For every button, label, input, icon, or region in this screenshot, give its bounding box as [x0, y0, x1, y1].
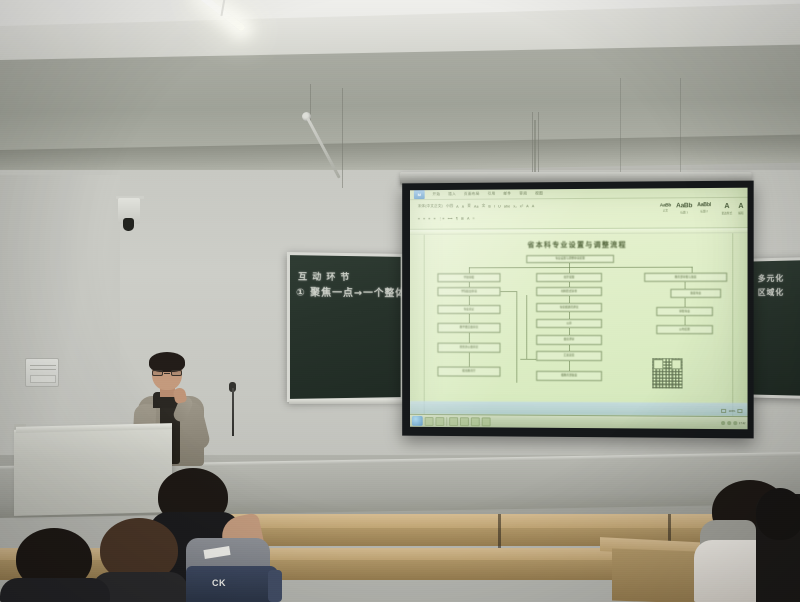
show-marks-icon[interactable]: ¶: [456, 217, 458, 221]
document-title: 省本科专业设置与调整流程: [410, 239, 748, 250]
word-application-window[interactable]: M 开始 插入 页面布局 引用 邮件 审阅 视图 宋体(中文正文) 小四 A A: [410, 188, 748, 430]
student-torso: [0, 578, 110, 602]
jacket-denim-body: [186, 566, 278, 602]
underline-icon[interactable]: U: [498, 204, 501, 208]
taskbar-separator: [446, 417, 447, 426]
zoom-level: 100%: [729, 409, 736, 412]
zoom-control[interactable]: 100%: [721, 409, 742, 413]
student-head: [756, 488, 800, 540]
flow-link: [569, 361, 570, 371]
flow-node: 会议评审: [536, 335, 602, 345]
camera-lens: [123, 218, 134, 231]
ribbon-tab-6[interactable]: 视图: [535, 191, 543, 196]
projection-screen[interactable]: M 开始 插入 页面布局 引用 邮件 审阅 视图 宋体(中文正文) 小四 A A: [402, 181, 753, 439]
bold-icon[interactable]: B: [488, 204, 491, 208]
flow-top-node: 专业设置与调整申请受理: [526, 255, 614, 263]
change-styles-button[interactable]: A 更改样式: [722, 203, 733, 215]
zoom-in-button[interactable]: [737, 409, 742, 413]
flow-node: 备案专业: [670, 289, 721, 298]
wall-electrical-panel: [25, 358, 59, 387]
flow-node: 校长办公会审定: [437, 343, 500, 353]
style-sample: AaBb: [676, 202, 692, 209]
taskbar-icon-browser[interactable]: [425, 416, 434, 425]
flow-link: [569, 312, 570, 319]
hanging-wire: [538, 112, 539, 174]
editing-button[interactable]: A 编辑: [738, 203, 743, 215]
desk-gap: [498, 514, 501, 548]
flow-link: [469, 333, 470, 343]
flow-link: [469, 353, 470, 367]
strikethrough-icon[interactable]: abe: [504, 204, 511, 208]
font-size-box[interactable]: 小四: [446, 204, 453, 209]
flow-link: [569, 328, 570, 335]
bullets-icon[interactable]: ≡: [418, 217, 420, 221]
eyeglasses-icon: [152, 370, 182, 376]
superscript-icon[interactable]: x²: [520, 204, 523, 208]
flow-side-rail: [516, 291, 517, 383]
taskbar-icon-image[interactable]: [471, 417, 480, 426]
ribbon-right-tools[interactable]: A 更改样式 A 编辑: [722, 203, 744, 215]
line-spacing-icon[interactable]: ⋮≡: [439, 217, 445, 221]
flow-node: 教学委员会审议: [437, 323, 500, 333]
shrink-font-icon[interactable]: A: [462, 204, 465, 208]
flow-side-rail: [526, 295, 527, 359]
classroom-scene: 互 动 环 节 ① 聚焦一点→一个整体 1. 多元化 2. 区域化 M 开始 插…: [0, 0, 800, 602]
subscript-icon[interactable]: x₂: [513, 204, 517, 208]
blackboard-left: 互 动 环 节 ① 聚焦一点→一个整体: [287, 252, 404, 402]
flowchart: 专业设置与调整申请受理 学校申报 学院提出申请 专业论证 教学委员会审议 校长办…: [410, 254, 748, 404]
italic-icon[interactable]: I: [494, 204, 495, 208]
wall-left-panel: [0, 175, 120, 465]
grow-font-icon[interactable]: A: [456, 204, 459, 208]
flow-link: [569, 345, 570, 351]
ribbon-tab-3[interactable]: 引用: [488, 192, 496, 197]
flow-node: 材料形式审查: [536, 287, 602, 296]
windows-taskbar[interactable]: 17:42: [410, 414, 748, 429]
text-highlight-icon[interactable]: A: [526, 204, 529, 208]
editing-icon: A: [738, 203, 743, 210]
taskbar-icon-folder[interactable]: [449, 417, 458, 426]
tray-icon-volume[interactable]: [727, 421, 731, 425]
flow-bus: [469, 267, 693, 268]
screen-support: [534, 120, 536, 175]
ribbon-tab-1[interactable]: 插入: [448, 192, 456, 197]
ribbon-tab-0[interactable]: 开始: [433, 192, 441, 197]
flow-node: 公示: [536, 319, 602, 328]
flow-node: 学院提出申请: [437, 287, 500, 296]
microphone-stand: [232, 388, 234, 436]
document-canvas[interactable]: 省本科专业设置与调整流程 专业设置与调整申请受理 学校申报 学院提出申请 专业论…: [410, 233, 748, 429]
shading-icon[interactable]: A: [467, 217, 470, 221]
taskbar-icon-media[interactable]: [435, 417, 444, 426]
style-sample: AaBbl: [697, 202, 711, 208]
font-color-icon[interactable]: A: [532, 204, 535, 208]
tray-icon-security[interactable]: [733, 421, 737, 425]
font-name-box[interactable]: 宋体(中文正文): [418, 204, 443, 209]
phonetic-icon[interactable]: 变: [467, 204, 471, 209]
style-name: 标题 2: [697, 209, 711, 213]
editing-label: 编辑: [738, 210, 743, 214]
flow-node: 审批专业: [656, 307, 713, 316]
chalk-text-line-1: 互 动 环 节: [298, 269, 350, 283]
ribbon-paragraph-group[interactable]: ≡ ≡ ≡ ≡ ⋮≡ ⟷ ¶ ⊞ A ⌗: [418, 217, 475, 221]
flow-col1-header: 学校申报: [437, 273, 500, 282]
style-heading-2[interactable]: AaBbl 标题 2: [697, 202, 711, 213]
brand-mark: CK: [212, 578, 226, 588]
hanging-wire: [342, 88, 343, 188]
clear-format-icon[interactable]: 文: [482, 204, 486, 209]
jacket-sleeve: [268, 570, 282, 602]
flow-node: 报教育部备案: [536, 371, 602, 381]
change-styles-label: 更改样式: [722, 211, 733, 215]
align-left-icon[interactable]: ≡: [433, 217, 435, 221]
flow-link: [685, 298, 686, 307]
flow-node: 报省教育厅: [437, 367, 500, 377]
start-button-icon[interactable]: [412, 416, 423, 426]
flow-col3-header: 教育部审批与备案: [644, 273, 727, 282]
wall-seam: [620, 78, 621, 178]
screen-canvas: M 开始 插入 页面布局 引用 邮件 审阅 视图 宋体(中文正文) 小四 A A: [410, 188, 748, 430]
tray-icon-network[interactable]: [721, 421, 725, 425]
word-ribbon-body[interactable]: 宋体(中文正文) 小四 A A 变 Aa 文 B I U abe x₂ x² A: [410, 198, 748, 230]
wall-seam: [680, 78, 681, 178]
change-case-icon[interactable]: Aa: [474, 204, 479, 208]
flow-col2-header: 省厅受理: [536, 273, 602, 282]
system-tray[interactable]: 17:42: [721, 421, 746, 425]
multilevel-icon[interactable]: ≡: [428, 217, 430, 221]
ribbon-tab-2[interactable]: 页面布局: [464, 192, 480, 197]
tray-clock: 17:42: [739, 422, 746, 425]
chalk-tray: [289, 399, 407, 404]
lectern: [14, 426, 172, 516]
flow-node: 汇总意见: [536, 351, 602, 361]
flow-link: [500, 291, 516, 292]
taskbar-icon-app[interactable]: [460, 417, 469, 426]
ribbon-font-group[interactable]: 宋体(中文正文) 小四 A A 变 Aa 文 B I U abe x₂ x² A: [418, 203, 535, 209]
style-name: 标题 1: [676, 210, 692, 214]
numbering-icon[interactable]: ≡: [423, 217, 425, 221]
flow-link: [569, 296, 570, 303]
lecturer-hair: [149, 352, 185, 372]
flow-link: [520, 359, 536, 360]
chalk-text-line-2: ① 聚焦一点→一个整体: [296, 284, 406, 300]
taskbar-icon-word[interactable]: [482, 417, 491, 426]
ribbon-tab-5[interactable]: 审阅: [519, 191, 527, 196]
ribbon-tab-4[interactable]: 邮件: [503, 191, 511, 196]
style-gallery[interactable]: AaBb 正文 AaBb 标题 1 AaBbl 标题 2: [660, 202, 711, 214]
change-styles-icon: A: [722, 203, 733, 210]
lecturer-hand: [173, 387, 188, 404]
borders-icon[interactable]: ⊞: [461, 217, 464, 221]
hanging-wire: [532, 112, 533, 172]
flow-link: [569, 282, 570, 287]
flow-node: 专家组通讯评议: [536, 303, 602, 312]
desk-right-front: [612, 548, 698, 602]
flow-link: [469, 314, 470, 323]
flow-node: 专业论证: [437, 305, 500, 314]
zoom-out-button[interactable]: [721, 409, 726, 413]
document-qr-code: [652, 358, 682, 388]
flow-node: 公布结果: [656, 325, 713, 334]
indent-icon[interactable]: ⟷: [448, 217, 453, 221]
style-sample: AaBb: [660, 202, 671, 207]
style-name: 正文: [660, 208, 671, 212]
flow-link: [469, 296, 470, 305]
flow-link: [469, 282, 470, 287]
flow-link: [685, 316, 686, 325]
office-button[interactable]: M: [414, 190, 425, 199]
sort-icon[interactable]: ⌗: [473, 217, 475, 221]
style-heading-1[interactable]: AaBb 标题 1: [676, 202, 692, 214]
style-normal[interactable]: AaBb 正文: [660, 202, 671, 212]
flow-link: [685, 282, 686, 289]
